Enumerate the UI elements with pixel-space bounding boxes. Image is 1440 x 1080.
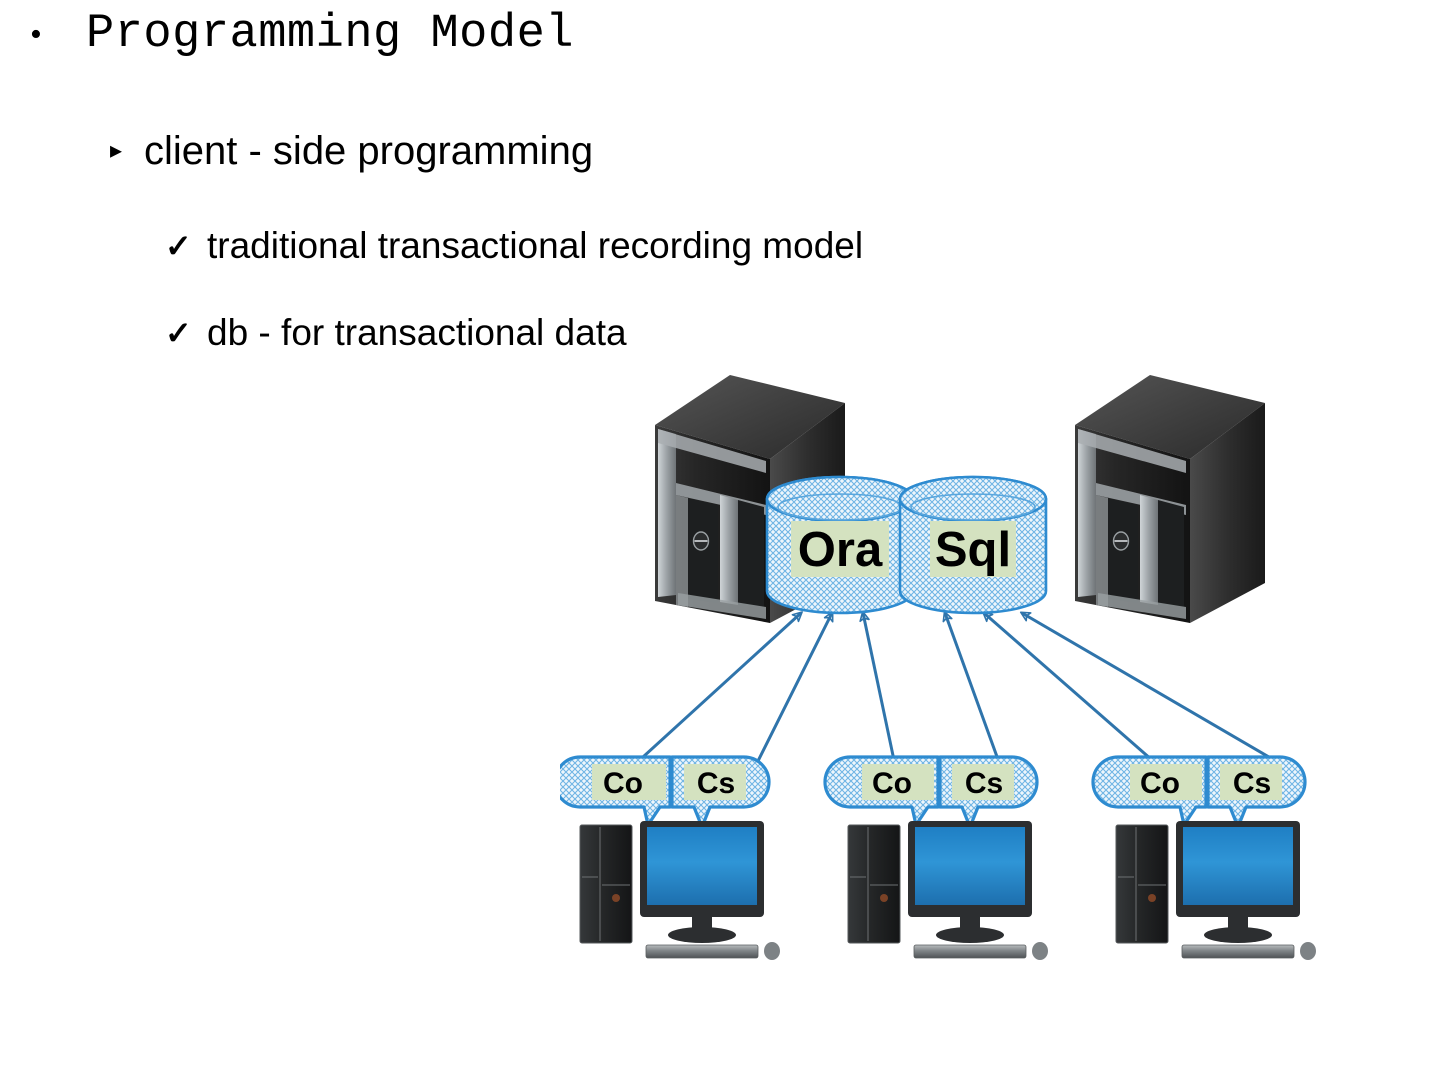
arrow-client1-co-to-ora xyxy=(632,613,801,767)
client-3-cs-label: Cs xyxy=(1233,767,1271,800)
bullet-dot-icon: • xyxy=(30,6,86,64)
client-2-monitor xyxy=(908,821,1032,943)
triangle-right-icon: ▸ xyxy=(110,122,144,180)
client-1-component-cs: Cs xyxy=(672,757,769,827)
arrow-client3-cs-to-sql xyxy=(1022,613,1286,767)
client-1-cs-label: Cs xyxy=(697,767,735,800)
bullet-level3-db-transactional-data: ✓ db - for transactional data xyxy=(165,305,627,361)
database-cylinder-ora: Ora xyxy=(767,477,913,613)
database-cylinder-sql: Sql xyxy=(900,477,1046,613)
arrow-client1-cs-to-ora xyxy=(756,613,832,765)
bullet-level3-traditional-model: ✓ traditional transactional recording mo… xyxy=(165,218,863,274)
db-label-ora: Ora xyxy=(798,523,883,577)
bullet-level3-label: traditional transactional recording mode… xyxy=(207,218,863,274)
client-3-monitor xyxy=(1176,821,1300,943)
client-3-mouse xyxy=(1300,942,1316,960)
client-2-pc-tower xyxy=(848,825,900,943)
check-icon: ✓ xyxy=(165,305,207,361)
client-2: Co Cs xyxy=(825,757,1048,960)
client-2-cs-label: Cs xyxy=(965,767,1003,800)
client-1-co-label: Co xyxy=(603,767,643,800)
client-1-component-co: Co xyxy=(560,757,670,825)
client-1-monitor xyxy=(640,821,764,943)
client-1-keyboard xyxy=(646,945,758,958)
architecture-diagram: Ora Sql Co Cs xyxy=(560,355,1380,975)
client-3-component-co: Co xyxy=(1093,757,1206,825)
bullet-level2-label: client - side programming xyxy=(144,122,593,180)
client-2-keyboard xyxy=(914,945,1026,958)
client-1-mouse xyxy=(764,942,780,960)
client-2-mouse xyxy=(1032,942,1048,960)
client-1-pc-tower xyxy=(580,825,632,943)
client-1: Co Cs xyxy=(560,757,780,960)
server-right xyxy=(1075,375,1265,623)
client-3-co-label: Co xyxy=(1140,767,1180,800)
arrow-client3-co-to-sql xyxy=(984,613,1160,767)
client-3-pc-tower xyxy=(1116,825,1168,943)
arrow-client2-cs-to-sql xyxy=(945,613,1000,765)
client-3: Co Cs xyxy=(1093,757,1316,960)
slide-text-body: • Programming Model ▸ client - side prog… xyxy=(0,0,1440,380)
check-icon: ✓ xyxy=(165,218,207,274)
client-3-component-cs: Cs xyxy=(1208,757,1305,827)
client-2-component-cs: Cs xyxy=(940,757,1037,827)
arrow-client2-co-to-ora xyxy=(863,613,895,765)
page-title: Programming Model xyxy=(86,6,574,64)
slide-title-bullet: • Programming Model xyxy=(30,6,574,64)
client-2-co-label: Co xyxy=(872,767,912,800)
bullet-level3-label: db - for transactional data xyxy=(207,305,627,361)
db-label-sql: Sql xyxy=(935,523,1011,577)
client-3-keyboard xyxy=(1182,945,1294,958)
connection-arrows xyxy=(632,613,1286,767)
client-2-component-co: Co xyxy=(825,757,938,825)
bullet-level2-client-side-programming: ▸ client - side programming xyxy=(110,122,593,180)
